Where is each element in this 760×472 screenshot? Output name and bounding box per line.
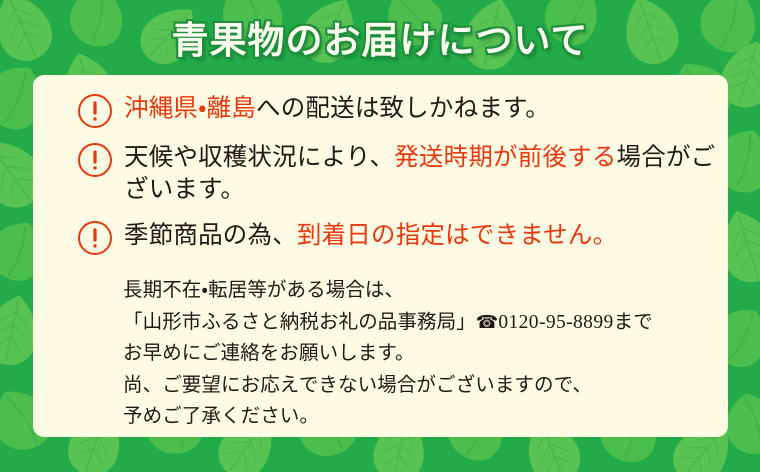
notice-highlight: 到着日の指定はできません。 — [297, 222, 617, 249]
notice-plain: 天候や収穫状況により、 — [124, 144, 394, 171]
footer-line: 予めご了承ください。 — [123, 401, 723, 433]
exclamation-circle-icon — [77, 142, 113, 178]
office-name: 「山形市ふるさと納税お礼の品事務局」 — [123, 312, 476, 333]
exclamation-circle-icon — [77, 220, 113, 256]
notice-highlight: 沖縄県・離島 — [124, 95, 256, 122]
footer-contact-line: 「山形市ふるさと納税お礼の品事務局」☎0120-95-8899まで — [123, 307, 723, 339]
notice-bullet-item: 沖縄県・離島への配送は致しかねます。 — [77, 92, 717, 129]
banner-title-area: 青果物のお届けについて — [0, 8, 760, 66]
notice-bullet-item: 天候や収穫状況により、発送時期が前後する場合がございます。 — [77, 141, 717, 207]
notice-bullet-text: 天候や収穫状況により、発送時期が前後する場合がございます。 — [124, 141, 717, 207]
contact-suffix: まで — [614, 312, 653, 333]
phone-number: 0120-95-8899 — [498, 312, 613, 333]
delivery-notice-banner: 青果物のお届けについて 沖縄県・離島への配送は致しかねます。 — [0, 0, 760, 472]
footer-line: 長期不在・転居等がある場合は、 — [123, 275, 723, 307]
telephone-icon: ☎ — [476, 312, 499, 333]
notice-bullet-text: 沖縄県・離島への配送は致しかねます。 — [124, 92, 550, 125]
notice-bullet-text: 季節商品の為、到着日の指定はできません。 — [124, 219, 617, 252]
footer-note: 長期不在・転居等がある場合は、 「山形市ふるさと納税お礼の品事務局」☎0120-… — [123, 275, 723, 433]
notice-plain: 季節商品の為、 — [124, 222, 297, 249]
footer-line: お早めにご連絡をお願いします。 — [123, 338, 723, 370]
page-title: 青果物のお届けについて — [172, 10, 589, 64]
exclamation-circle-icon — [77, 93, 113, 129]
footer-line: 尚、ご要望にお応えできない場合がございますので、 — [123, 370, 723, 402]
notice-bullet-list: 沖縄県・離島への配送は致しかねます。 天候や収穫状況により、発送時期が前後する場… — [77, 92, 717, 268]
notice-card: 沖縄県・離島への配送は致しかねます。 天候や収穫状況により、発送時期が前後する場… — [33, 75, 728, 437]
notice-bullet-item: 季節商品の為、到着日の指定はできません。 — [77, 219, 717, 256]
notice-plain: への配送は致しかねます。 — [256, 95, 550, 122]
notice-highlight: 発送時期が前後する — [394, 144, 616, 171]
